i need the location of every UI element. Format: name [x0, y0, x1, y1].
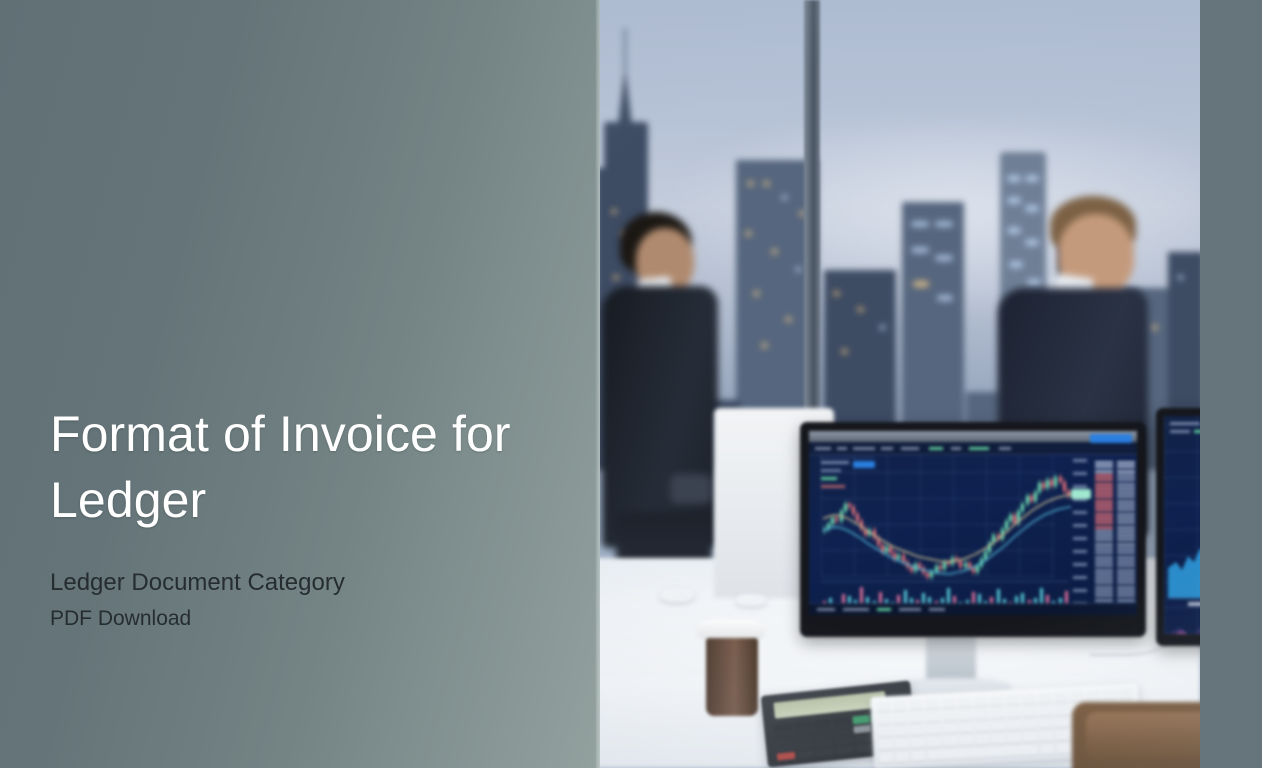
hero-copy: Format of Invoice for Ledger Ledger Docu… [50, 401, 550, 632]
terminal-titlebar [809, 431, 1137, 442]
secondary-screen [1164, 416, 1200, 634]
trading-screen [809, 431, 1137, 615]
office-chair [1072, 702, 1200, 768]
hero-subtitle: Ledger Document Category [50, 567, 550, 598]
monitor-stand [926, 635, 976, 683]
price-highlight [1071, 489, 1091, 499]
page-title: Format of Invoice for Ledger [50, 401, 550, 533]
hero-banner: Format of Invoice for Ledger Ledger Docu… [0, 0, 1262, 768]
terminal-action-button [1090, 434, 1132, 443]
moving-average-line [823, 473, 1071, 581]
coffee-cup [702, 620, 760, 716]
coffee-cup-body [706, 638, 758, 716]
order-book-panel [1095, 457, 1133, 609]
mouse [660, 588, 694, 602]
hero-download-label: PDF Download [50, 605, 550, 632]
price-scale [1073, 459, 1089, 613]
terminal-toolbar [809, 442, 1137, 455]
trading-monitor [800, 422, 1146, 637]
secondary-monitor [1156, 408, 1200, 646]
area-chart [1168, 512, 1200, 598]
office-photo [596, 0, 1200, 768]
hero-text-panel: Format of Invoice for Ledger Ledger Docu… [0, 0, 600, 768]
right-color-band [1200, 0, 1262, 768]
mouse-secondary [736, 594, 766, 606]
